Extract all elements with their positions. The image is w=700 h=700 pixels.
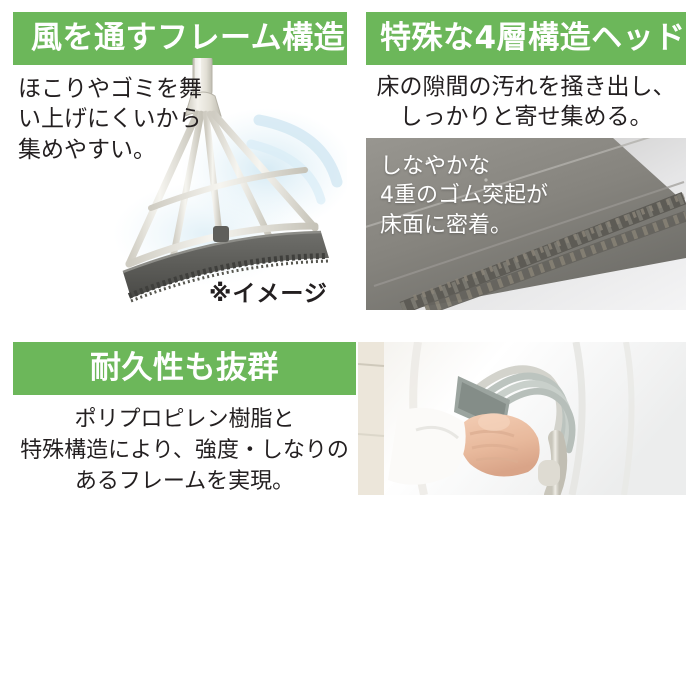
panel-durability-title-bar: 耐久性も抜群	[13, 342, 356, 395]
panel-frame-structure: 風を通すフレーム構造 ほこりやゴミを舞 い上げにくいから 集めやすい。 ※イメー…	[13, 12, 347, 312]
image-disclaimer-note: ※イメージ	[209, 274, 328, 308]
panel-head-title-bar: 特殊な4層構造ヘッド	[366, 12, 686, 65]
panel-durability-title: 耐久性も抜群	[90, 353, 279, 384]
panel-head-body: 床の隙間の汚れを掻き出し、 しっかりと寄せ集める。	[366, 72, 686, 133]
durability-hand-photo	[358, 342, 686, 495]
head-photo-overlay-text: しなやかな 4重のゴム突起が 床面に密着。	[380, 152, 548, 240]
panel-frame-body: ほこりやゴミを舞 い上げにくいから 集めやすい。	[18, 74, 228, 165]
panel-durability-body: ポリプロピレン樹脂と 特殊構造により、強度・しなりの あるフレームを実現。	[13, 404, 356, 498]
head-blade-photo: しなやかな 4重のゴム突起が 床面に密着。	[366, 138, 686, 310]
panel-durability: 耐久性も抜群 ポリプロピレン樹脂と 特殊構造により、強度・しなりの あるフレーム…	[13, 342, 686, 497]
panel-frame-title: 風を通すフレーム構造	[31, 23, 345, 54]
panel-head-title: 特殊な4層構造ヘッド	[380, 23, 686, 54]
panel-four-layer-head: しなやかな 4重のゴム突起が 床面に密着。 特殊な4層構造ヘッド 床の隙間の汚れ…	[366, 12, 686, 300]
infographic-stage: 風を通すフレーム構造 ほこりやゴミを舞 い上げにくいから 集めやすい。 ※イメー…	[0, 0, 700, 700]
